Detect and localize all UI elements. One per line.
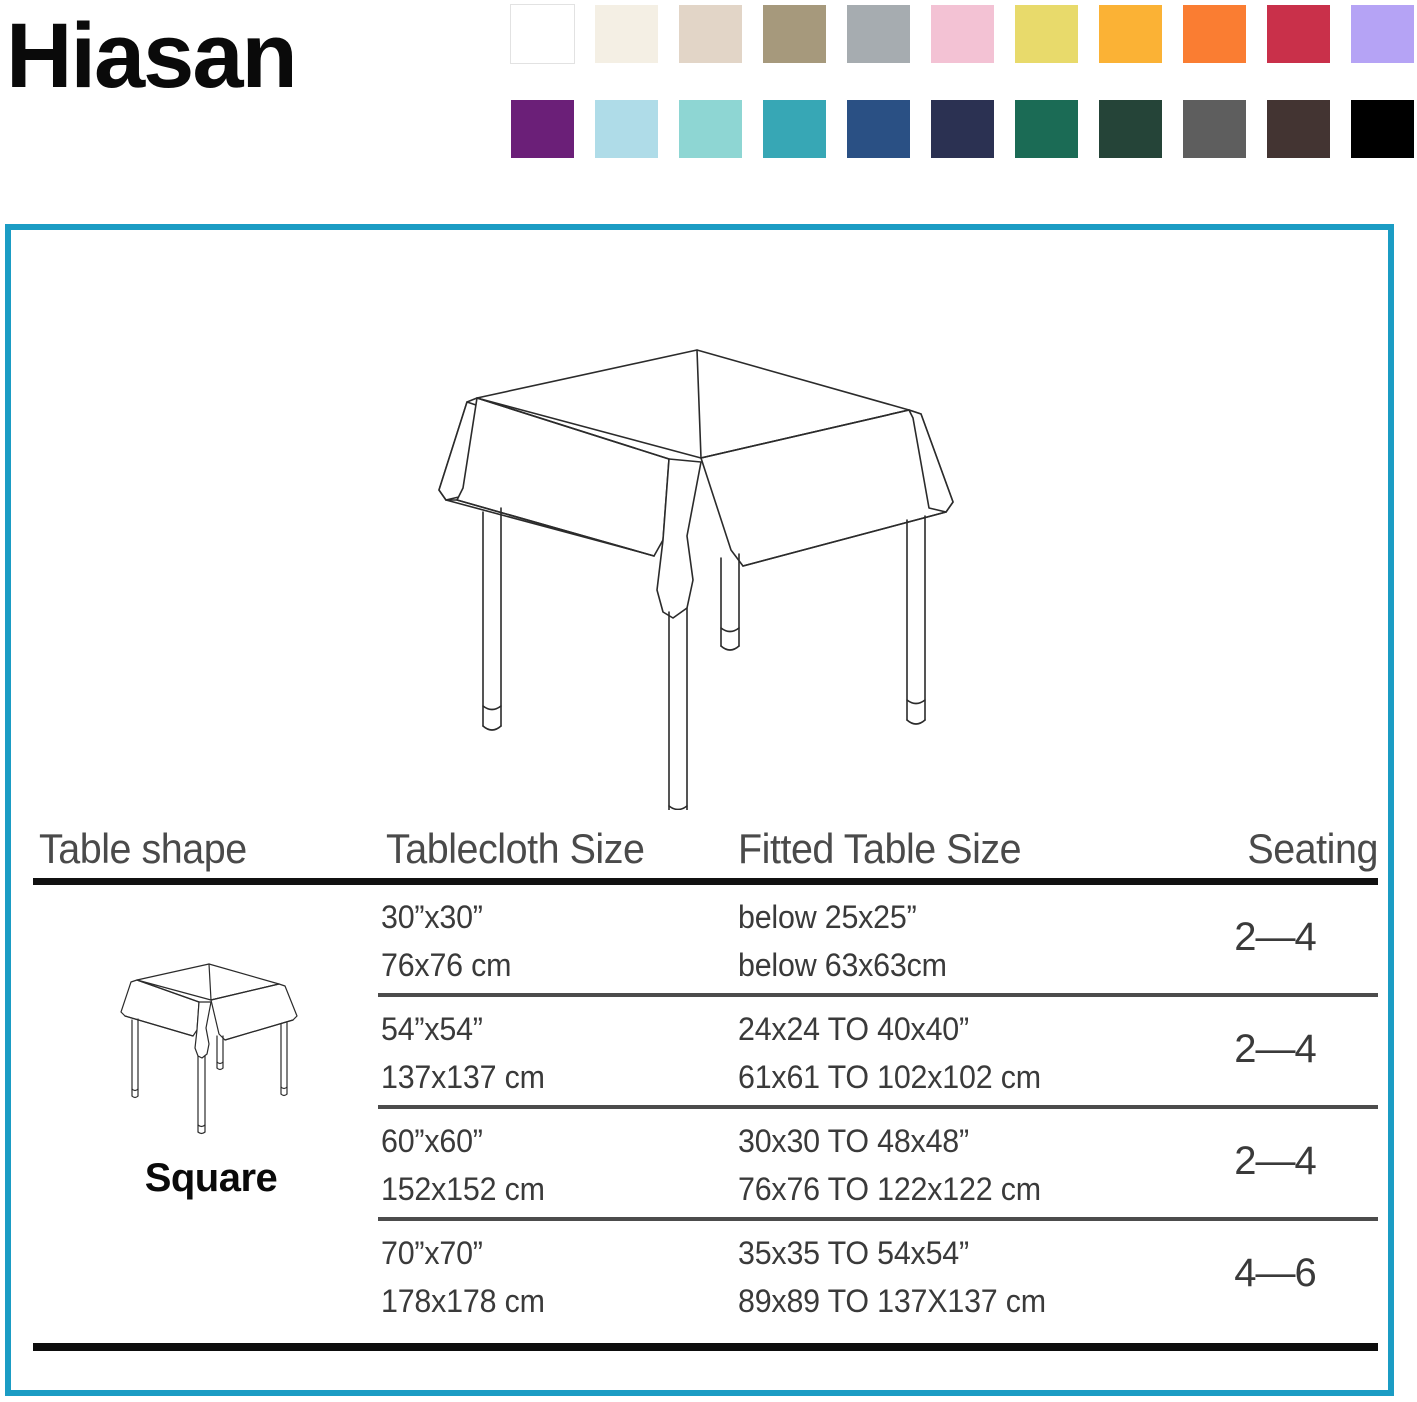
color-swatch-row-1 <box>511 5 1411 63</box>
table-bottom-rule <box>33 1343 1378 1351</box>
cell-fitted-table-size-inches: below 25x25” <box>738 899 917 936</box>
cell-tablecloth-size-inches: 30”x30” <box>381 899 483 936</box>
table-row: 30”x30”76x76 cmbelow 25x25”below 63x63cm… <box>33 885 1378 993</box>
color-swatch-beige[interactable] <box>679 5 742 63</box>
color-swatch-dark-brown[interactable] <box>1267 100 1330 158</box>
cell-fitted-table-size-inches: 30x30 TO 48x48” <box>738 1123 969 1160</box>
cell-tablecloth-size-cm: 152x152 cm <box>381 1171 545 1208</box>
table-header-row: Table shape Tablecloth Size Fitted Table… <box>33 805 1378 873</box>
table-row: 60”x60”152x152 cm30x30 TO 48x48”76x76 TO… <box>33 1109 1378 1217</box>
color-swatch-yellow[interactable] <box>1015 5 1078 63</box>
size-specification-table: Table shape Tablecloth Size Fitted Table… <box>33 805 1378 1351</box>
color-swatch-red[interactable] <box>1267 5 1330 63</box>
color-swatch-emerald[interactable] <box>1015 100 1078 158</box>
cell-seating: 2—4 <box>1190 915 1360 960</box>
table-row: 54”x54”137x137 cm24x24 TO 40x40”61x61 TO… <box>33 997 1378 1105</box>
cell-fitted-table-size-cm: 89x89 TO 137X137 cm <box>738 1283 1046 1320</box>
brand-logo: Hiasan <box>6 8 296 105</box>
color-swatch-navy[interactable] <box>931 100 994 158</box>
color-swatch-light-blue[interactable] <box>595 100 658 158</box>
color-swatch-gold[interactable] <box>1099 5 1162 63</box>
cell-fitted-table-size-cm: 76x76 TO 122x122 cm <box>738 1171 1041 1208</box>
header-area: Hiasan <box>0 0 1417 205</box>
table-row: 70”x70”178x178 cm35x35 TO 54x54”89x89 TO… <box>33 1221 1378 1329</box>
color-swatch-blue[interactable] <box>847 100 910 158</box>
color-swatch-dark-gray[interactable] <box>1183 100 1246 158</box>
cell-tablecloth-size-inches: 60”x60” <box>381 1123 483 1160</box>
cell-seating: 2—4 <box>1190 1027 1360 1072</box>
cell-seating: 2—4 <box>1190 1139 1360 1184</box>
square-table-illustration <box>401 340 1001 810</box>
color-swatch-taupe[interactable] <box>763 5 826 63</box>
bordered-content-card: Square Table shape Tablecloth Size Fitte… <box>5 224 1394 1396</box>
column-header-fitted-table-size: Fitted Table Size <box>738 825 1021 873</box>
column-header-tablecloth-size: Tablecloth Size <box>386 825 645 873</box>
cell-tablecloth-size-cm: 76x76 cm <box>381 947 511 984</box>
table-header-rule <box>33 878 1378 885</box>
cell-seating: 4—6 <box>1190 1251 1360 1296</box>
table-body: 30”x30”76x76 cmbelow 25x25”below 63x63cm… <box>33 885 1378 1329</box>
color-swatch-row-2 <box>511 100 1411 158</box>
cell-fitted-table-size-inches: 24x24 TO 40x40” <box>738 1011 969 1048</box>
cell-tablecloth-size-inches: 70”x70” <box>381 1235 483 1272</box>
cell-fitted-table-size-cm: 61x61 TO 102x102 cm <box>738 1059 1041 1096</box>
cell-tablecloth-size-cm: 137x137 cm <box>381 1059 545 1096</box>
color-swatch-orange[interactable] <box>1183 5 1246 63</box>
color-swatch-dark-green[interactable] <box>1099 100 1162 158</box>
column-header-table-shape: Table shape <box>39 825 247 873</box>
color-swatch-pink[interactable] <box>931 5 994 63</box>
cell-fitted-table-size-inches: 35x35 TO 54x54” <box>738 1235 969 1272</box>
color-swatch-ivory[interactable] <box>595 5 658 63</box>
product-size-chart-infographic: Hiasan <box>0 0 1417 1402</box>
color-swatch-black[interactable] <box>1351 100 1414 158</box>
color-swatch-teal[interactable] <box>763 100 826 158</box>
color-swatch-gray[interactable] <box>847 5 910 63</box>
cell-fitted-table-size-cm: below 63x63cm <box>738 947 947 984</box>
color-swatch-white[interactable] <box>511 5 574 63</box>
color-swatch-lavender[interactable] <box>1351 5 1414 63</box>
color-swatch-aqua[interactable] <box>679 100 742 158</box>
column-header-seating: Seating <box>1247 825 1378 873</box>
cell-tablecloth-size-cm: 178x178 cm <box>381 1283 545 1320</box>
cell-tablecloth-size-inches: 54”x54” <box>381 1011 483 1048</box>
color-swatch-panel <box>511 5 1411 195</box>
color-swatch-purple[interactable] <box>511 100 574 158</box>
